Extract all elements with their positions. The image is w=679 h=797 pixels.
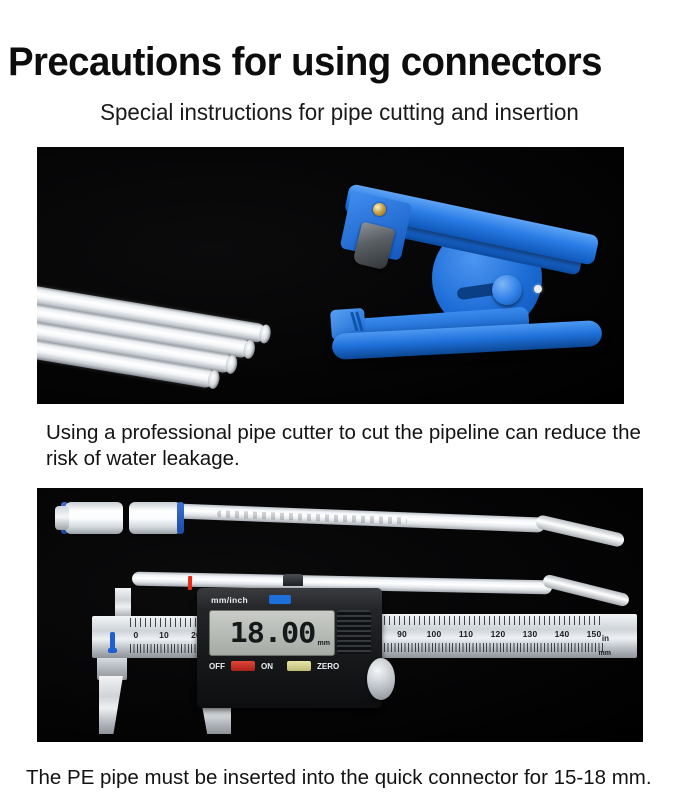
caliper-zero-label: ZERO bbox=[317, 662, 339, 671]
caliper-zero-button[interactable] bbox=[287, 661, 311, 671]
cutting-caption: Using a professional pipe cutter to cut … bbox=[46, 420, 646, 472]
caliper-measurement-value: 18.00 bbox=[230, 619, 316, 647]
caliper-on-label: ON bbox=[261, 662, 273, 671]
scale-tick-label: 120 bbox=[491, 629, 506, 639]
connector-collet-ring bbox=[177, 502, 184, 534]
cutter-screw bbox=[373, 203, 386, 216]
scale-unit-mm-label: mm bbox=[599, 650, 611, 657]
quick-connector-body bbox=[129, 502, 181, 534]
scale-pointer bbox=[110, 632, 115, 650]
caliper-lower-jaw bbox=[99, 676, 123, 734]
caliper-vent-grille bbox=[337, 610, 371, 654]
white-pe-tubes bbox=[37, 275, 347, 395]
caliper-thumb-wheel[interactable] bbox=[367, 658, 395, 700]
scale-tick-label: 150 bbox=[587, 629, 602, 639]
scale-tick-label: 0 bbox=[134, 630, 139, 640]
quick-connector-body bbox=[65, 502, 123, 534]
scale-tick-label: 130 bbox=[523, 629, 538, 639]
connector-end-cap bbox=[55, 506, 69, 530]
scale-tick-label: 110 bbox=[459, 629, 473, 639]
caliper-mode-button[interactable] bbox=[269, 595, 291, 604]
scale-tick-label: 140 bbox=[555, 629, 570, 639]
caliper-button-row: OFF ON ZERO bbox=[209, 660, 369, 674]
scale-tick-label: 10 bbox=[159, 630, 169, 640]
page-subtitle: Special instructions for pipe cutting an… bbox=[10, 98, 669, 126]
caliper-scale-right: 90 100 110 120 130 140 150 in mm bbox=[372, 614, 637, 658]
scale-tick-label: 100 bbox=[427, 629, 442, 639]
insertion-depth-mark bbox=[188, 576, 192, 590]
caliper-measurement-unit: mm bbox=[318, 640, 330, 647]
cutter-rivet-dot bbox=[534, 285, 542, 293]
product-instruction-page: Precautions for using connectors Special… bbox=[0, 0, 679, 797]
scale-tick-label: 90 bbox=[397, 629, 407, 639]
insertion-caption: The PE pipe must be inserted into the qu… bbox=[26, 765, 666, 791]
caliper-lcd-display: 18.00 mm bbox=[209, 610, 335, 656]
caliper-on-off-switch[interactable] bbox=[231, 661, 255, 671]
scale-unit-inch-label: in bbox=[602, 634, 609, 643]
pe-pipe-and-cutter-photo bbox=[37, 147, 624, 404]
pipe-insertion-depth-photo: 0 10 20 90 100 110 120 130 140 150 bbox=[37, 488, 643, 742]
cutter-knob bbox=[492, 275, 522, 305]
caliper-body-nub bbox=[283, 574, 303, 586]
page-title: Precautions for using connectors bbox=[8, 40, 644, 84]
blue-pipe-cutter bbox=[337, 175, 617, 380]
caliper-mode-label: mm/inch bbox=[211, 595, 248, 605]
digital-caliper: 0 10 20 90 100 110 120 130 140 150 bbox=[37, 596, 643, 742]
caliper-off-label: OFF bbox=[209, 662, 225, 671]
caliper-body: mm/inch 18.00 mm OFF ON ZERO bbox=[197, 588, 382, 708]
caliper-scale-left: 0 10 20 bbox=[92, 616, 207, 658]
